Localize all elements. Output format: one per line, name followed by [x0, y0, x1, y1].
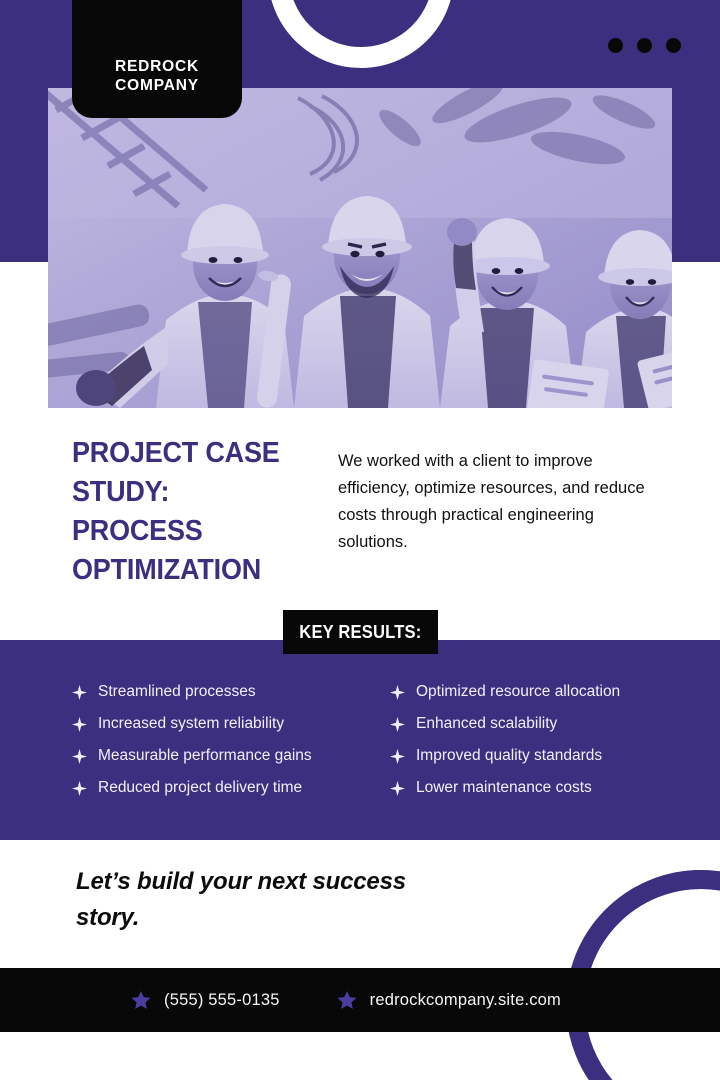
- contact-website[interactable]: redrockcompany.site.com: [337, 990, 561, 1010]
- sparkle-icon: [390, 685, 405, 700]
- hero-image: [48, 88, 672, 408]
- phone-number: (555) 555-0135: [164, 991, 280, 1010]
- key-results-label: KEY RESULTS:: [299, 622, 421, 643]
- hero-illustration: [48, 88, 672, 408]
- logo-line-2: COMPANY: [115, 77, 199, 96]
- white-ring-decoration-icon: [268, 0, 454, 68]
- list-item-label: Optimized resource allocation: [416, 683, 620, 700]
- logo-line-1: REDROCK: [115, 58, 199, 77]
- list-item-label: Reduced project delivery time: [98, 779, 302, 796]
- list-item: Lower maintenance costs: [390, 772, 700, 804]
- list-item: Increased system reliability: [72, 708, 382, 740]
- footer-bar: (555) 555-0135 redrockcompany.site.com: [0, 968, 720, 1032]
- sparkle-icon: [72, 781, 87, 796]
- list-item-label: Lower maintenance costs: [416, 779, 592, 796]
- three-dots-decoration-icon: [608, 38, 681, 53]
- list-item: Measurable performance gains: [72, 740, 382, 772]
- list-item-label: Streamlined processes: [98, 683, 256, 700]
- logo-text: REDROCK COMPANY: [115, 58, 199, 96]
- list-item: Improved quality standards: [390, 740, 700, 772]
- sparkle-icon: [390, 749, 405, 764]
- sparkle-icon: [72, 749, 87, 764]
- list-item-label: Increased system reliability: [98, 715, 284, 732]
- logo-badge[interactable]: REDROCK COMPANY: [72, 0, 242, 118]
- dot-1: [608, 38, 623, 53]
- list-item-label: Measurable performance gains: [98, 747, 312, 764]
- website-url: redrockcompany.site.com: [370, 991, 561, 1010]
- intro-paragraph: We worked with a client to improve effic…: [338, 448, 668, 556]
- star-icon: [131, 990, 151, 1010]
- list-item: Streamlined processes: [72, 676, 382, 708]
- star-icon: [337, 990, 357, 1010]
- dot-2: [637, 38, 652, 53]
- list-item: Optimized resource allocation: [390, 676, 700, 708]
- list-item: Enhanced scalability: [390, 708, 700, 740]
- sparkle-icon: [72, 685, 87, 700]
- page-title: PROJECT CASE STUDY: PROCESS OPTIMIZATION: [72, 434, 305, 589]
- cta-text: Let’s build your next success story.: [76, 864, 406, 936]
- dot-3: [666, 38, 681, 53]
- list-item-label: Improved quality standards: [416, 747, 602, 764]
- key-results-tag: KEY RESULTS:: [283, 610, 438, 654]
- list-item-label: Enhanced scalability: [416, 715, 557, 732]
- sparkle-icon: [390, 781, 405, 796]
- key-results-grid: Streamlined processes Increased system r…: [0, 676, 720, 804]
- sparkle-icon: [390, 717, 405, 732]
- poster-canvas: REDROCK COMPANY: [0, 0, 720, 1080]
- list-item: Reduced project delivery time: [72, 772, 382, 804]
- sparkle-icon: [72, 717, 87, 732]
- results-column-right: Optimized resource allocation Enhanced s…: [390, 676, 700, 804]
- headline-section: PROJECT CASE STUDY: PROCESS OPTIMIZATION…: [0, 424, 720, 604]
- results-column-left: Streamlined processes Increased system r…: [72, 676, 382, 804]
- contact-phone[interactable]: (555) 555-0135: [131, 990, 280, 1010]
